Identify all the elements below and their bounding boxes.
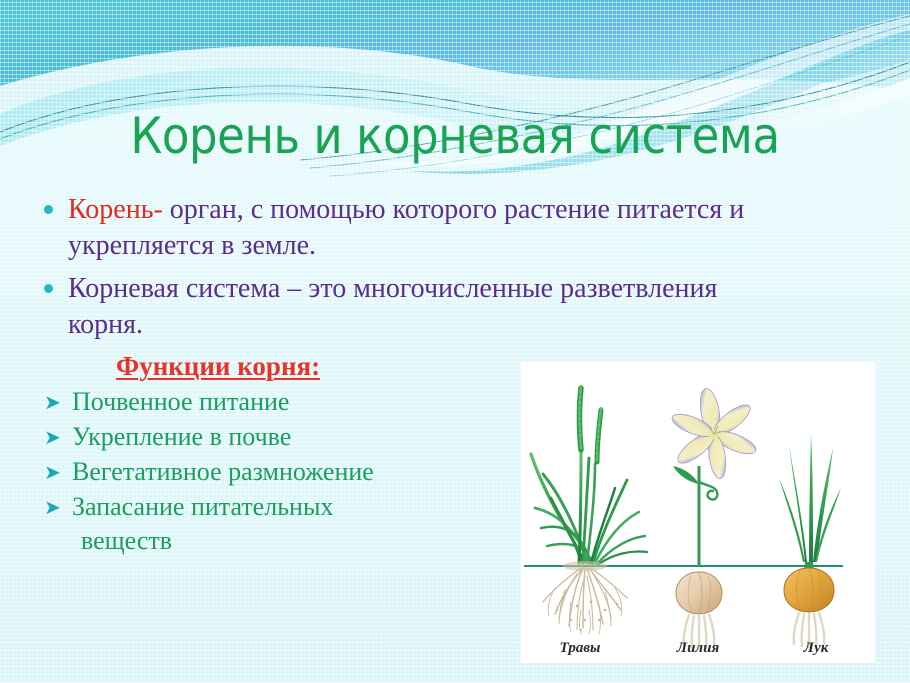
- bullet-text: Корневая система – это многочисленные ра…: [68, 271, 784, 344]
- arrow-bullet-icon: ➤: [44, 490, 72, 524]
- bullet-item-definition-root-system: Корневая система – это многочисленные ра…: [44, 271, 784, 344]
- plant-root-systems-figure: Травы Лилия Лук: [521, 362, 875, 663]
- dot-bullet-icon: [44, 192, 68, 214]
- arrow-bullet-icon: ➤: [44, 455, 72, 489]
- caption-grass: Травы: [521, 640, 639, 657]
- arrow-bullet-icon: ➤: [44, 385, 72, 419]
- plant-illustration: [521, 362, 875, 663]
- slide: Корень и корневая система Корень- орган,…: [0, 0, 910, 683]
- bullet-text: Корень- орган, с помощью которого растен…: [68, 192, 784, 265]
- caption-lily: Лилия: [639, 640, 757, 657]
- dot-bullet-icon: [44, 271, 68, 293]
- functions-heading-label: Функции корня:: [116, 351, 320, 381]
- bullet-keyword: Корень-: [68, 194, 163, 225]
- bullet-body: Корневая система – это многочисленные ра…: [68, 273, 717, 340]
- list-item-label: Запасание питательных: [72, 492, 333, 521]
- arrow-bullet-icon: ➤: [44, 420, 72, 454]
- caption-onion: Лук: [757, 640, 875, 657]
- page-title: Корень и корневая система: [0, 110, 910, 163]
- bullet-body: орган, с помощью которого растение питае…: [68, 194, 744, 261]
- figure-captions: Травы Лилия Лук: [521, 640, 875, 657]
- bullet-item-definition-root: Корень- орган, с помощью которого растен…: [44, 192, 784, 265]
